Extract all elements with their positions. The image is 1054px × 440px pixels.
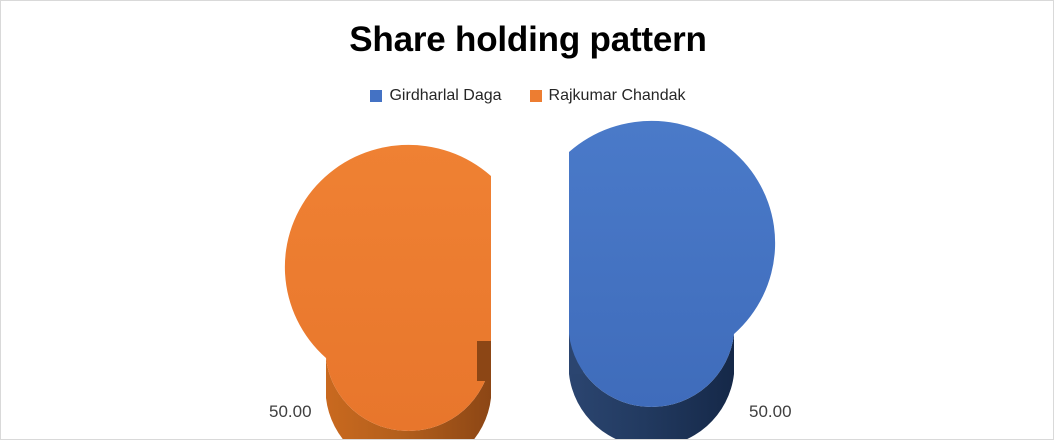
data-label-girdharlal-daga: 50.00 — [749, 402, 792, 422]
pie-slice-top-rajkumar-chandak — [285, 145, 491, 431]
legend-item-rajkumar-chandak[interactable]: Rajkumar Chandak — [530, 85, 686, 107]
chart-legend: Girdharlal Daga Rajkumar Chandak — [1, 85, 1054, 107]
legend-swatch-icon-series-1 — [370, 90, 382, 102]
pie-slice-edge-strip-rajkumar-chandak — [477, 341, 491, 381]
legend-item-label-series-1: Girdharlal Daga — [389, 87, 501, 105]
chart-title: Share holding pattern — [1, 19, 1054, 61]
pie-chart-graphic — [1, 119, 1054, 439]
legend-item-label-series-2: Rajkumar Chandak — [549, 87, 686, 105]
data-label-rajkumar-chandak: 50.00 — [269, 402, 312, 422]
pie-slice-rajkumar-chandak[interactable] — [285, 145, 491, 439]
pie-slice-top-girdharlal-daga — [569, 121, 775, 407]
chart-container: Share holding pattern Girdharlal Daga Ra… — [0, 0, 1054, 440]
legend-swatch-icon-series-2 — [530, 90, 542, 102]
legend-item-girdharlal-daga[interactable]: Girdharlal Daga — [370, 85, 501, 107]
pie-slice-girdharlal-daga[interactable] — [569, 121, 775, 439]
plot-area: 50.00 50.00 — [1, 119, 1054, 439]
